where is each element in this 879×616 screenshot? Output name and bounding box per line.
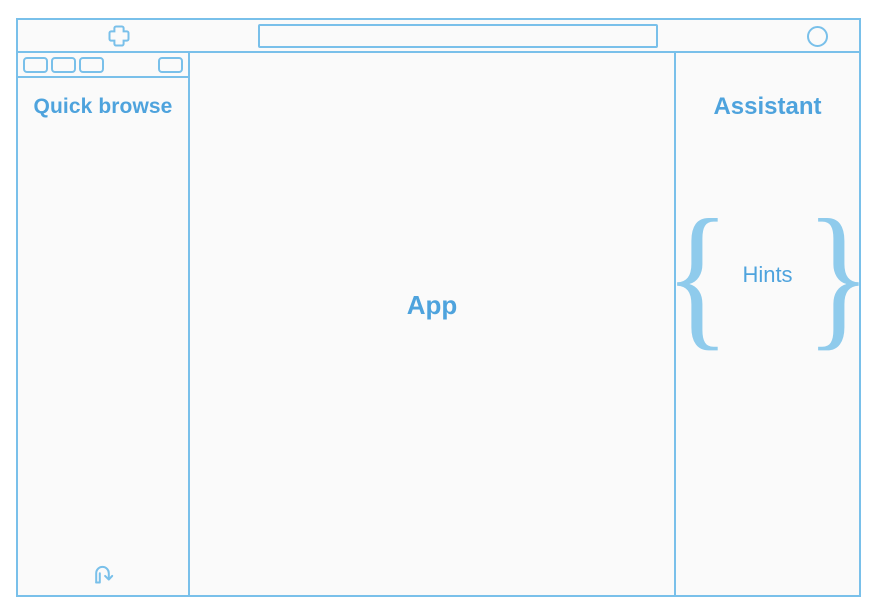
hints-label: Hints xyxy=(735,262,799,288)
undo-button[interactable] xyxy=(86,559,120,589)
u-turn-arrow-icon xyxy=(90,561,116,587)
hints-block: { Hints } xyxy=(676,202,859,347)
wireframe-frame: Quick browse App Assistant xyxy=(16,18,861,597)
avatar[interactable] xyxy=(807,26,828,47)
app-title: App xyxy=(190,53,674,595)
sidebar-tab-2[interactable] xyxy=(51,57,76,73)
header-bar xyxy=(18,20,859,53)
sidebar-footer xyxy=(18,559,188,589)
assistant-panel: Assistant { Hints } xyxy=(676,53,859,595)
sidebar-tab-4[interactable] xyxy=(158,57,183,73)
sidebar-tab-strip xyxy=(18,53,188,78)
add-button[interactable] xyxy=(99,21,139,51)
sidebar-title: Quick browse xyxy=(18,93,188,121)
sidebar-tab-1[interactable] xyxy=(23,57,48,73)
search-input[interactable] xyxy=(258,24,658,48)
app-content-panel: App xyxy=(190,53,676,595)
sidebar-tab-3[interactable] xyxy=(79,57,104,73)
body-row: Quick browse App Assistant xyxy=(18,53,859,595)
sidebar: Quick browse xyxy=(18,53,190,595)
assistant-title: Assistant xyxy=(676,93,859,121)
plus-icon xyxy=(106,23,132,49)
